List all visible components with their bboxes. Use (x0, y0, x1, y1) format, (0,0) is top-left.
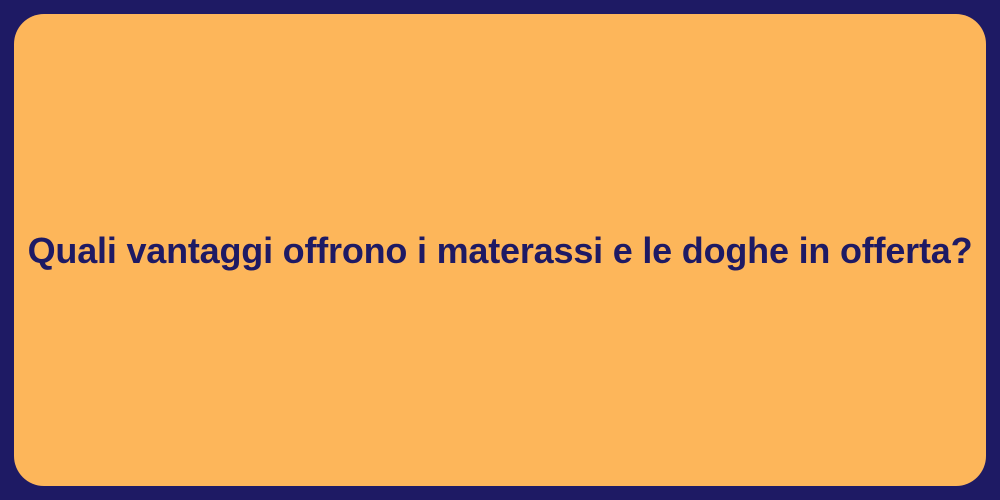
banner-panel: Quali vantaggi offrono i materassi e le … (14, 14, 986, 486)
banner-canvas: Quali vantaggi offrono i materassi e le … (0, 0, 1000, 500)
banner-headline: Quali vantaggi offrono i materassi e le … (28, 228, 973, 273)
